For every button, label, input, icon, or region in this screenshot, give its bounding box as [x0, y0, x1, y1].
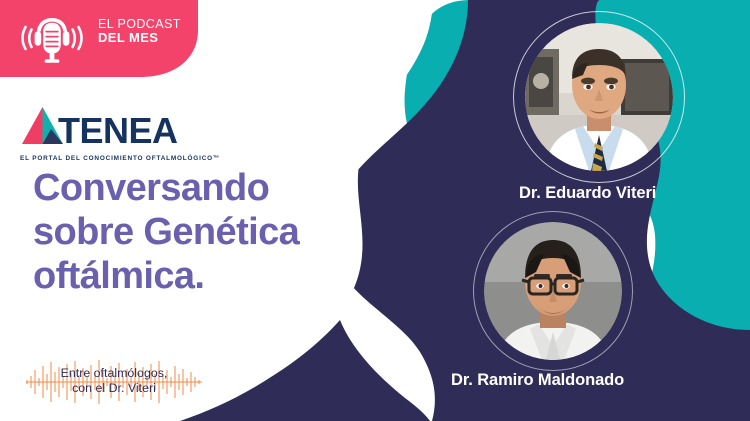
headline-line-2: sobre Genética — [33, 210, 423, 254]
host-photo-eduardo-viteri — [525, 23, 673, 171]
podcast-promo-poster: EL PODCAST DEL MES TENEA EL PORTAL DEL C… — [0, 0, 750, 421]
tenea-triangle-icon-pink — [22, 107, 43, 144]
waveform-footer: Entre oftalmólogos, con el Dr. Viteri — [24, 356, 204, 408]
waveform-caption-line-2: con el Dr. Viteri — [24, 381, 204, 396]
tenea-tagline: EL PORTAL DEL CONOCIMIENTO OFTALMOLÓGICO… — [20, 155, 220, 162]
podcast-badge-text: EL PODCAST DEL MES — [98, 17, 181, 46]
podcast-microphone-headphones-icon — [12, 9, 92, 65]
tenea-logo: TENEA EL PORTAL DEL CONOCIMIENTO OFTALMO… — [18, 104, 220, 162]
svg-text:TENEA: TENEA — [58, 110, 178, 148]
host-name-eduardo-viteri: Dr. Eduardo Viteri — [519, 184, 656, 203]
waveform-caption-line-1: Entre oftalmólogos, — [24, 366, 204, 381]
podcast-badge-line2: DEL MES — [98, 31, 181, 46]
headline-line-3: oftálmica. — [33, 254, 423, 298]
host-name-ramiro-maldonado: Dr. Ramiro Maldonado — [451, 371, 624, 390]
host-photo-ramiro-maldonado — [484, 222, 622, 360]
tenea-wordmark: TENEA — [18, 104, 188, 148]
podcast-badge-line1: EL PODCAST — [98, 17, 181, 31]
headline-line-1: Conversando — [33, 166, 423, 210]
waveform-caption: Entre oftalmólogos, con el Dr. Viteri — [24, 366, 204, 396]
headline: Conversando sobre Genética oftálmica. — [33, 166, 423, 298]
